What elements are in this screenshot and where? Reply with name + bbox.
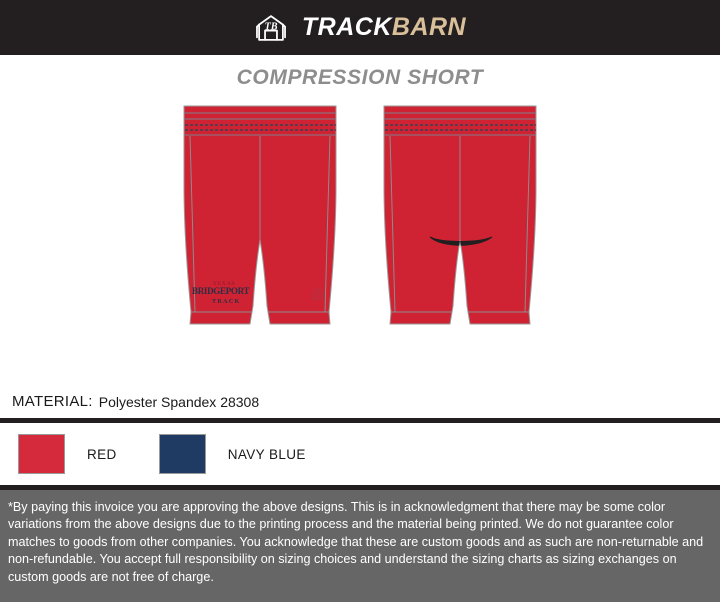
color-swatch-navy-blue: NAVY BLUE [159,434,306,474]
svg-text:BRIDGEPORT: BRIDGEPORT [192,286,249,296]
brand-barn-text: BARN [392,15,466,40]
app-header: TB TRACKBARN [0,0,720,55]
material-label: MATERIAL: [12,393,93,410]
material-row: MATERIAL: Polyester Spandex 28308 [0,385,720,418]
garment-artwork-area: TEXAS BRIDGEPORT TRACK TB [0,100,720,385]
svg-text:TB: TB [264,21,277,32]
product-title-area: COMPRESSION SHORT [0,55,720,100]
color-swatch-red: RED [18,434,117,474]
swatch-chip-red [18,434,65,474]
swatch-label-red: RED [87,447,117,462]
swatch-label-navy-blue: NAVY BLUE [228,447,306,462]
brand-track-text: TRACK [302,15,392,40]
svg-text:TB: TB [315,290,321,295]
brand-wordmark: TRACKBARN [302,15,466,40]
color-swatch-band: RED NAVY BLUE [0,423,720,485]
barn-monogram-icon: TB [254,11,288,45]
compression-short-front-view: TEXAS BRIDGEPORT TRACK TB [170,100,350,340]
swatch-chip-navy-blue [159,434,206,474]
material-value: Polyester Spandex 28308 [99,394,259,410]
compression-short-back-view [370,100,550,340]
page-title: COMPRESSION SHORT [237,66,484,90]
disclaimer-footer: *By paying this invoice you are approvin… [0,490,720,602]
svg-text:TRACK: TRACK [212,299,241,305]
